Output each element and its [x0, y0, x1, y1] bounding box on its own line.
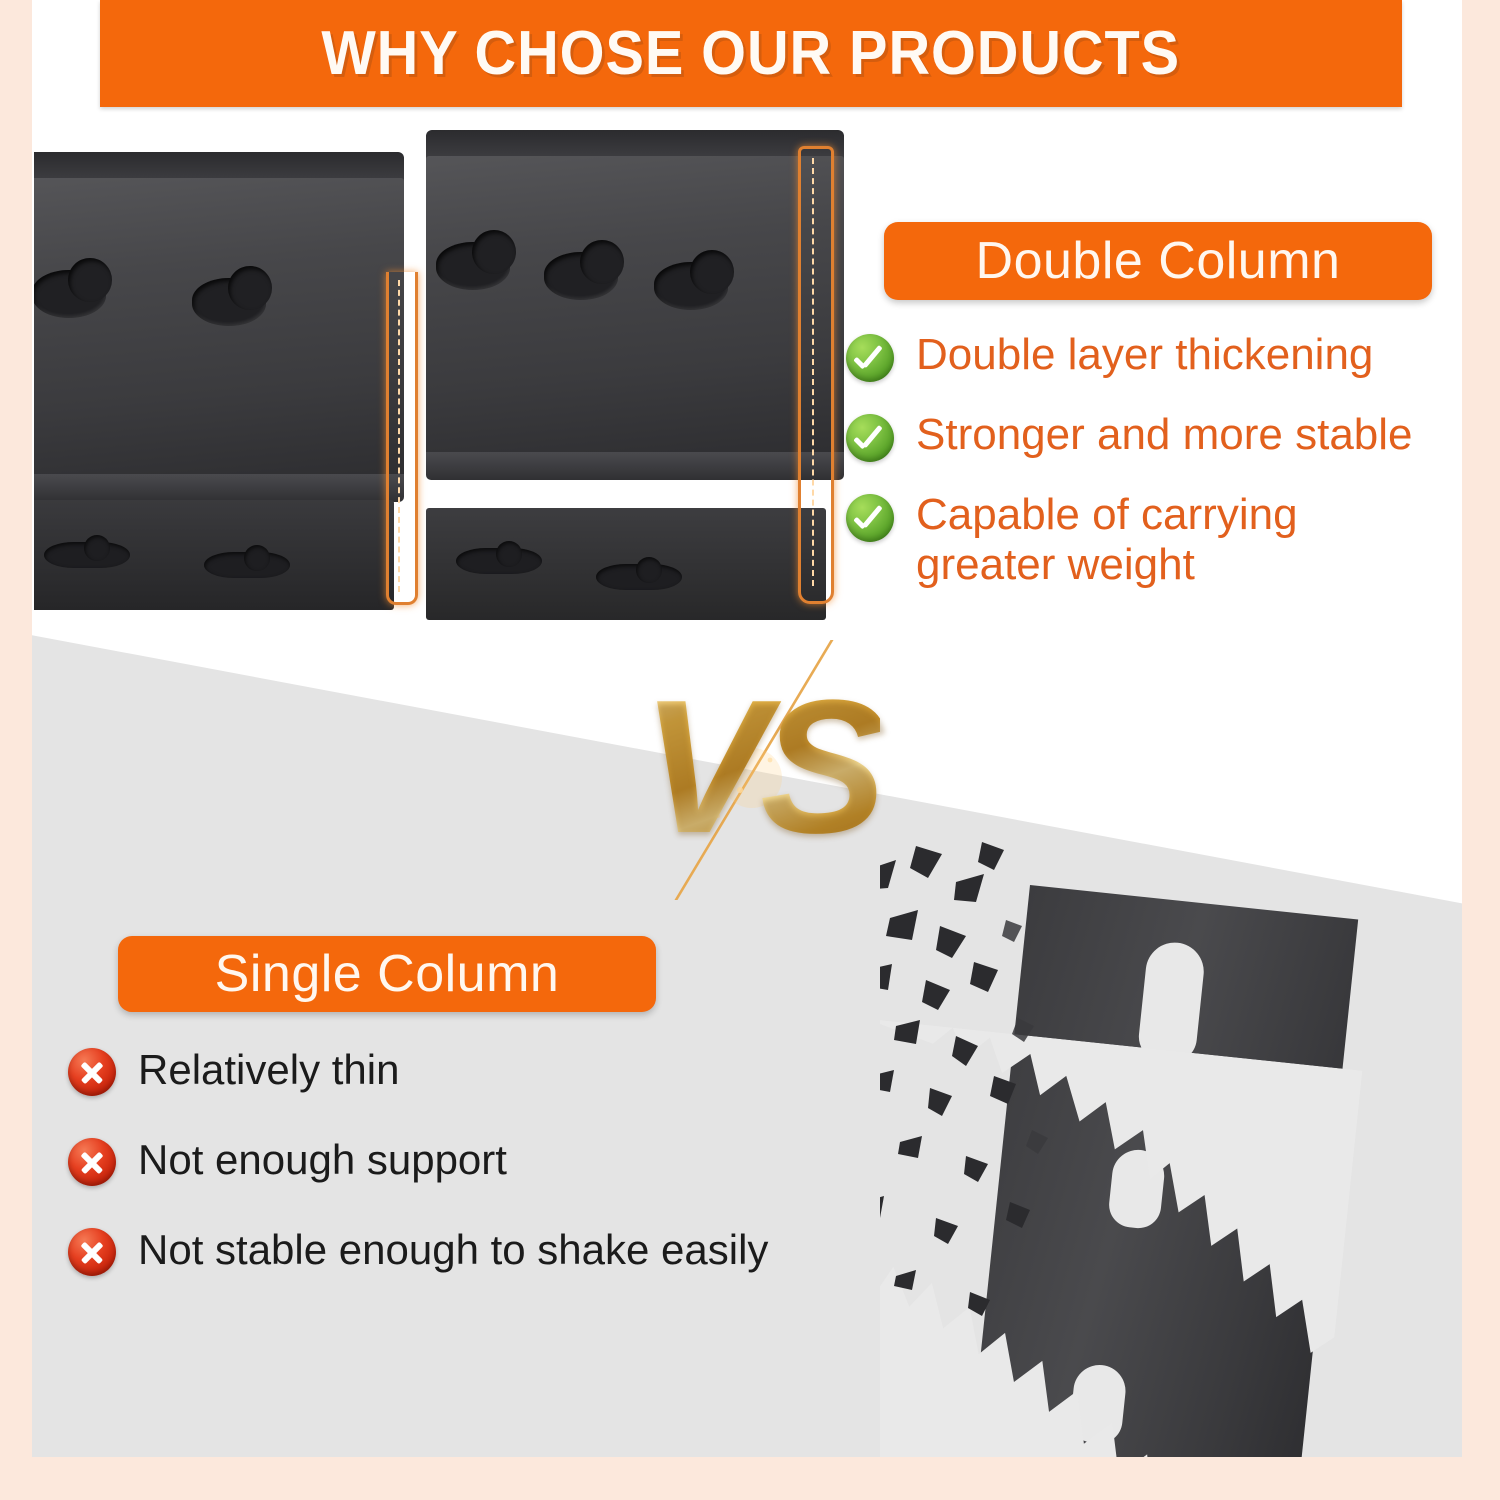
cons-item-label: Not enough support [138, 1136, 507, 1184]
double-column-badge: Double Column [884, 222, 1432, 300]
beam-slot-small [204, 552, 290, 578]
edge-highlight-dash [812, 158, 814, 586]
check-circle-icon [846, 334, 894, 382]
cross-circle-icon [68, 1228, 116, 1276]
beam-left-lower-flange [34, 500, 394, 610]
pros-item-label: Double layer thickening [916, 330, 1373, 380]
beam-right [426, 156, 844, 456]
cross-circle-icon [68, 1138, 116, 1186]
pros-list: Double layer thickening Stronger and mor… [846, 330, 1466, 618]
beam-slot [654, 262, 728, 310]
double-column-photo [34, 122, 854, 622]
beam-slot-small [596, 564, 682, 590]
pros-item-label: Stronger and more stable [916, 410, 1413, 460]
beam-slot-small [44, 542, 130, 568]
check-circle-icon [846, 414, 894, 462]
edge-highlight [798, 146, 834, 604]
vs-badge: VS [640, 672, 880, 882]
vs-label: VS [640, 672, 880, 862]
beam-right-web [426, 156, 844, 456]
cons-item-label: Not stable enough to shake easily [138, 1226, 768, 1274]
beam-right-bottom-lip [426, 452, 844, 480]
list-item: Stronger and more stable [846, 410, 1466, 462]
beam-slot [34, 270, 106, 318]
infographic-canvas: VS [0, 0, 1500, 1500]
beam-slot [192, 278, 266, 326]
single-column-badge-label: Single Column [215, 944, 560, 1004]
beam-left-web [34, 178, 404, 478]
pros-item-label: Capable of carrying greater weight [916, 490, 1336, 590]
double-column-badge-label: Double Column [976, 231, 1341, 291]
list-item: Capable of carrying greater weight [846, 490, 1466, 590]
edge-highlight-dash [398, 280, 400, 592]
debris-fragments [880, 840, 1210, 1350]
page-title: WHY CHOSE OUR PRODUCTS [322, 18, 1181, 89]
beam-left [34, 178, 404, 478]
beam-right-lower-flange [426, 508, 826, 620]
single-column-photo [880, 840, 1465, 1457]
list-item: Not stable enough to shake easily [68, 1224, 888, 1276]
beam-slot [544, 252, 618, 300]
beam-left-bottom-lip [34, 474, 404, 502]
list-item: Relatively thin [68, 1044, 888, 1096]
edge-highlight [386, 272, 418, 605]
header-banner: WHY CHOSE OUR PRODUCTS [100, 0, 1402, 107]
list-item: Double layer thickening [846, 330, 1466, 382]
beam-slot [436, 242, 510, 290]
single-column-badge: Single Column [118, 936, 656, 1012]
cons-list: Relatively thin Not enough support Not s… [68, 1044, 888, 1314]
beam-slot-small [456, 548, 542, 574]
check-circle-icon [846, 494, 894, 542]
cons-item-label: Relatively thin [138, 1046, 399, 1094]
cross-circle-icon [68, 1048, 116, 1096]
list-item: Not enough support [68, 1134, 888, 1186]
